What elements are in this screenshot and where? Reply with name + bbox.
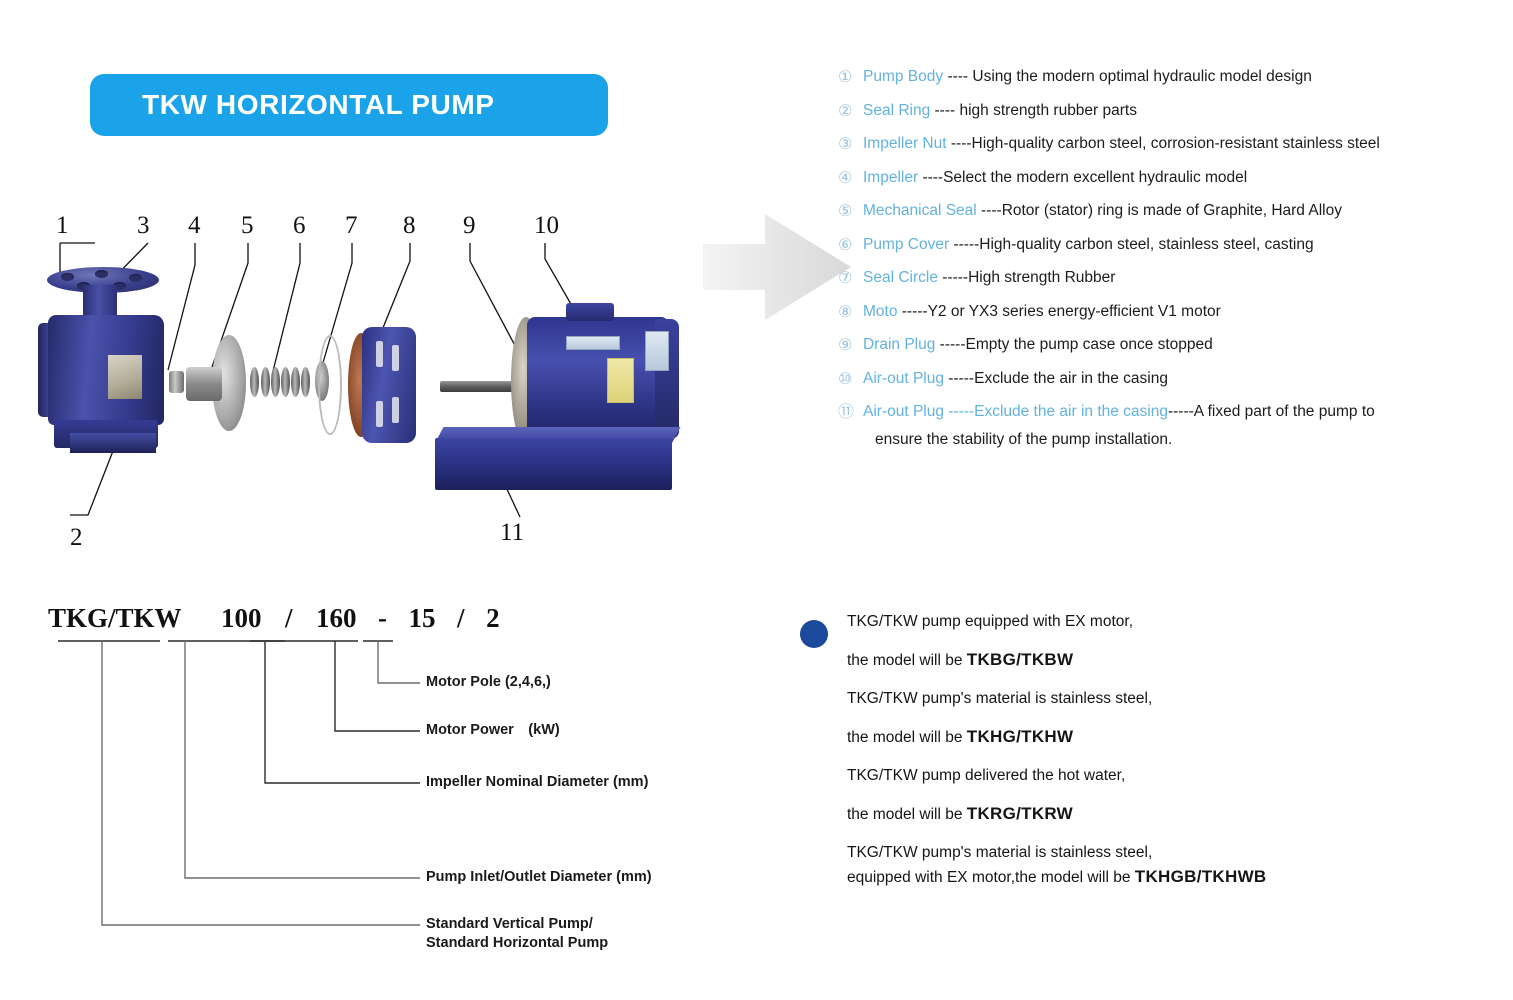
legend-text-9: Drain Plug -----Empty the pump case once… (863, 334, 1213, 356)
legend-label-3: Impeller Nut (863, 135, 947, 152)
legend-item-3: ③ Impeller Nut ----High-quality carbon s… (838, 133, 1503, 155)
pump-body-foot (70, 433, 156, 453)
legend-number-11: ⑪ (838, 401, 863, 423)
legend-text-8: Moto -----Y2 or YX3 series energy-effici… (863, 301, 1221, 323)
nomenclature-label-inlet-diameter: Pump Inlet/Outlet Diameter (mm) (426, 868, 652, 887)
legend-number-1: ① (838, 66, 863, 88)
legend-text-3: Impeller Nut ----High-quality carbon ste… (863, 133, 1380, 155)
callout-1: 1 (56, 213, 69, 238)
motor-terminal-box (566, 303, 614, 321)
legend-text-1: Pump Body ---- Using the modern optimal … (863, 66, 1312, 88)
pump-body-nameplate (108, 355, 142, 399)
legend-text-11: Air-out Plug -----Exclude the air in the… (863, 401, 1375, 423)
variant-line-5: TKG/TKW pump delivered the hot water, (800, 766, 1500, 786)
variant-code-2: TKBG/TKBW (967, 650, 1074, 669)
variant-line-8: equipped with EX motor,the model will be… (800, 867, 1500, 888)
bullet-point-icon (800, 620, 828, 648)
legend-dash-3: ---- (947, 135, 972, 152)
legend-item-2: ② Seal Ring ---- high strength rubber pa… (838, 100, 1503, 122)
callout-6: 6 (293, 213, 306, 238)
pump-body-housing (48, 315, 164, 425)
pump-cover-icon (348, 327, 422, 443)
legend-text-6: Pump Cover -----High-quality carbon stee… (863, 234, 1314, 256)
legend-number-6: ⑥ (838, 234, 863, 256)
legend-blue-desc-11: Exclude the air in the casing (974, 403, 1168, 420)
variant-code-4: TKHG/TKHW (967, 727, 1074, 746)
variant-line-2: the model will be TKBG/TKBW (800, 650, 1500, 671)
legend-dash-2: ---- (930, 102, 959, 119)
legend-item-5: ⑤ Mechanical Seal ----Rotor (stator) rin… (838, 200, 1503, 222)
legend-label-5: Mechanical Seal (863, 202, 977, 219)
legend-number-8: ⑧ (838, 301, 863, 323)
parts-legend-list: ① Pump Body ---- Using the modern optima… (838, 66, 1503, 451)
callout-2: 2 (70, 525, 83, 550)
callout-4: 4 (188, 213, 201, 238)
variant-line-3: TKG/TKW pump's material is stainless ste… (800, 689, 1500, 709)
variant-line-4: the model will be TKHG/TKHW (800, 727, 1500, 748)
motor-label-sticker (645, 331, 669, 371)
legend-text-4: Impeller ----Select the modern excellent… (863, 167, 1247, 189)
callout-11: 11 (500, 520, 524, 545)
legend-label-10: Air-out Plug (863, 370, 944, 387)
legend-desc-4: Select the modern excellent hydraulic mo… (943, 169, 1247, 186)
nomenclature-label-motor-pole: Motor Pole (2,4,6,) (426, 673, 551, 692)
legend-item-11-line2: ensure the stability of the pump install… (838, 429, 1503, 451)
callout-10: 10 (534, 213, 559, 238)
product-spec-page: TKW HORIZONTAL PUMP 1 3 4 5 (0, 0, 1513, 1000)
legend-dash-4: ---- (918, 169, 943, 186)
impeller-icon (186, 335, 246, 431)
legend-desc-6: High-quality carbon steel, stainless ste… (979, 236, 1313, 253)
legend-number-3: ③ (838, 133, 863, 155)
page-title-banner: TKW HORIZONTAL PUMP (90, 74, 608, 136)
variant-text-4: the model will be (847, 729, 967, 746)
legend-desc-5: Rotor (stator) ring is made of Graphite,… (1002, 202, 1342, 219)
legend-dash-5: ---- (977, 202, 1002, 219)
legend-dash-1: ---- (943, 68, 972, 85)
legend-item-7: ⑦ Seal Circle -----High strength Rubber (838, 267, 1503, 289)
legend-dash-9: ----- (935, 336, 965, 353)
legend-desc-3: High-quality carbon steel, corrosion-res… (972, 135, 1380, 152)
legend-item-1: ① Pump Body ---- Using the modern optima… (838, 66, 1503, 88)
variant-code-6: TKRG/TKRW (967, 804, 1073, 823)
motor-nameplate-sticker (566, 336, 620, 350)
legend-text-5: Mechanical Seal ----Rotor (stator) ring … (863, 200, 1342, 222)
legend-number-9: ⑨ (838, 334, 863, 356)
nomenclature-label-impeller-diameter: Impeller Nominal Diameter (mm) (426, 773, 648, 792)
legend-number-10: ⑩ (838, 368, 863, 390)
legend-desc-1: Using the modern optimal hydraulic model… (972, 68, 1311, 85)
flow-arrow-icon (703, 212, 853, 324)
callout-8: 8 (403, 213, 416, 238)
legend-dash-8: ----- (897, 303, 927, 320)
legend-text-2: Seal Ring ---- high strength rubber part… (863, 100, 1137, 122)
variant-text-8: equipped with EX motor,the model will be (847, 869, 1135, 886)
legend-number-4: ④ (838, 167, 863, 189)
variant-line-6: the model will be TKRG/TKRW (800, 804, 1500, 825)
legend-text-7: Seal Circle -----High strength Rubber (863, 267, 1115, 289)
legend-number-2: ② (838, 100, 863, 122)
legend-number-5: ⑤ (838, 200, 863, 222)
base-plate-icon (435, 438, 672, 490)
legend-black-dash-11: ----- (1168, 403, 1194, 420)
legend-number-7: ⑦ (838, 267, 863, 289)
mechanical-seal-icon (250, 363, 312, 401)
model-nomenclature-diagram: TKG/TKW 100 / 160 - 15 / 2 (0, 595, 720, 975)
legend-dash-6: ----- (949, 236, 979, 253)
variant-code-8: TKHGB/TKHWB (1135, 867, 1267, 886)
variant-text-5: TKG/TKW pump delivered the hot water, (847, 767, 1125, 784)
legend-desc-10: Exclude the air in the casing (974, 370, 1168, 387)
legend-item-4: ④ Impeller ----Select the modern excelle… (838, 167, 1503, 189)
legend-item-10: ⑩ Air-out Plug -----Exclude the air in t… (838, 368, 1503, 390)
legend-dash-10: ----- (944, 370, 974, 387)
legend-dash-11: ----- (944, 403, 974, 420)
motor-shaft (440, 381, 518, 392)
legend-item-9: ⑨ Drain Plug -----Empty the pump case on… (838, 334, 1503, 356)
legend-desc-9: Empty the pump case once stopped (966, 336, 1213, 353)
legend-text-10: Air-out Plug -----Exclude the air in the… (863, 368, 1168, 390)
legend-dash-7: ----- (938, 269, 968, 286)
variant-text-3: TKG/TKW pump's material is stainless ste… (847, 690, 1152, 707)
nomenclature-label-pump-type: Standard Vertical Pump/ Standard Horizon… (426, 915, 608, 953)
legend-item-11: ⑪ Air-out Plug -----Exclude the air in t… (838, 401, 1503, 423)
variant-line-1: TKG/TKW pump equipped with EX motor, (800, 612, 1500, 632)
seal-circle-icon (318, 335, 342, 435)
legend-item-6: ⑥ Pump Cover -----High-quality carbon st… (838, 234, 1503, 256)
legend-label-8: Moto (863, 303, 897, 320)
callout-9: 9 (463, 213, 476, 238)
nomenclature-label-motor-power: Motor Power (kW) (426, 721, 560, 740)
legend-item-8: ⑧ Moto -----Y2 or YX3 series energy-effi… (838, 301, 1503, 323)
variant-text-1: TKG/TKW pump equipped with EX motor, (847, 613, 1133, 630)
impeller-nut-icon (169, 371, 184, 393)
motor-yellow-plate (607, 358, 634, 403)
variant-line-7: TKG/TKW pump's material is stainless ste… (800, 843, 1500, 863)
legend-label-9: Drain Plug (863, 336, 935, 353)
legend-desc-2: high strength rubber parts (959, 102, 1137, 119)
variant-text-2: the model will be (847, 652, 967, 669)
legend-black-desc-11: A fixed part of the pump to (1194, 403, 1375, 420)
variant-text-6: the model will be (847, 806, 967, 823)
legend-label-4: Impeller (863, 169, 918, 186)
legend-desc-8: Y2 or YX3 series energy-efficient V1 mot… (928, 303, 1221, 320)
variant-text-7: TKG/TKW pump's material is stainless ste… (847, 844, 1152, 861)
legend-label-11: Air-out Plug (863, 403, 944, 420)
legend-label-2: Seal Ring (863, 102, 930, 119)
legend-label-7: Seal Circle (863, 269, 938, 286)
exploded-pump-diagram: 1 3 4 5 6 7 8 9 10 2 11 (0, 195, 700, 585)
legend-label-6: Pump Cover (863, 236, 949, 253)
page-title: TKW HORIZONTAL PUMP (90, 89, 495, 121)
callout-3: 3 (137, 213, 150, 238)
callout-5: 5 (241, 213, 254, 238)
model-variants-notes: TKG/TKW pump equipped with EX motor, the… (800, 612, 1500, 906)
legend-desc-7: High strength Rubber (968, 269, 1115, 286)
callout-7: 7 (345, 213, 358, 238)
legend-label-1: Pump Body (863, 68, 943, 85)
